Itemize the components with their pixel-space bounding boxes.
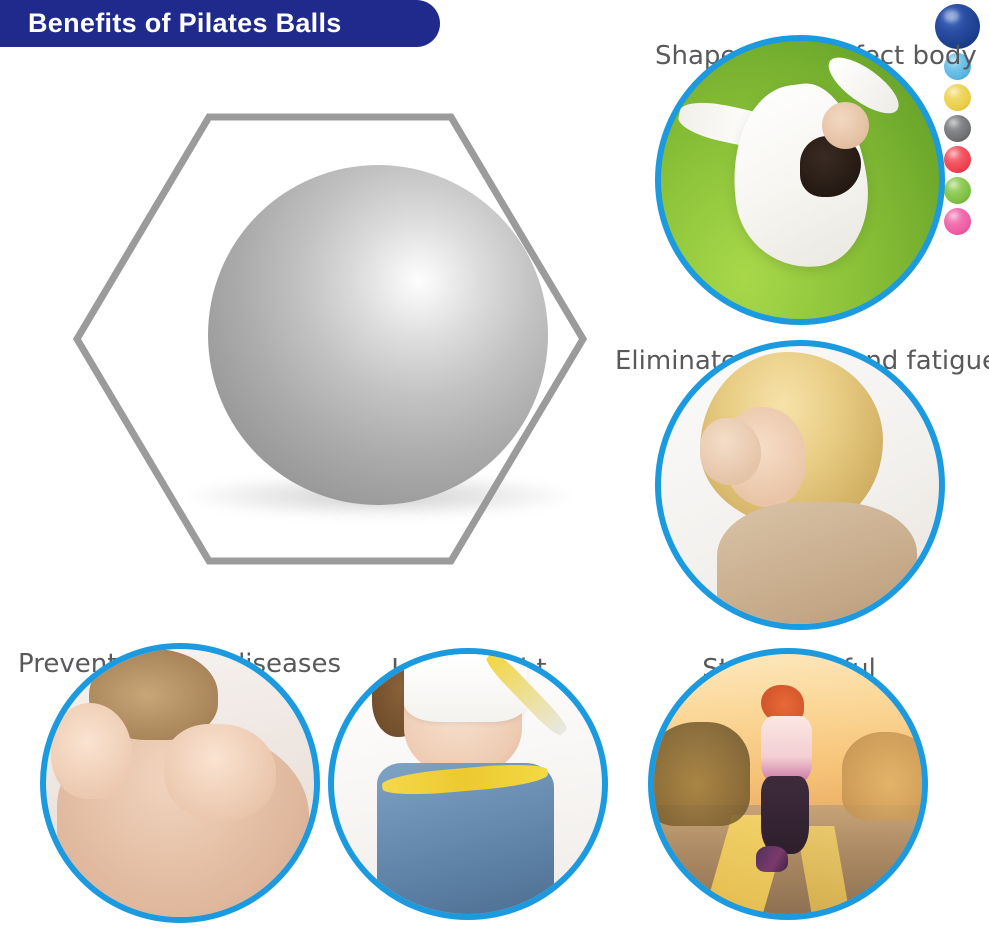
run-runner-shoe [756,846,788,872]
photo-woman-holding-sore-neck-and-shoulder [40,643,320,923]
run-runner-legs [761,776,809,854]
swatch-gray [944,115,971,142]
swatch-red [944,146,971,173]
infographic-root: Benefits of Pilates Balls Shape your per… [0,0,989,952]
page-title: Benefits of Pilates Balls [28,8,342,39]
photo-stressed-woman-resting-head-on-hand [655,340,945,630]
yoga-head-shape [822,102,869,149]
benefit-card-shape-body: Shape your perfect body [655,35,947,71]
title-banner: Benefits of Pilates Balls [0,0,440,47]
benefit-card-lose-weight: Lose weight [328,648,610,684]
benefit-card-eliminate-tension: Eliminate tension and fatigue [655,340,947,376]
run-trees-left [648,722,750,826]
swatch-yellow [944,84,971,111]
run-runner-torso [761,716,812,784]
benefit-card-stay-youthful: Stay youthful [648,648,930,684]
benefit-card-prevent-disease: Prevent chronic diseases [40,643,322,679]
stress-torso-shape [717,502,917,630]
swatch-pink [944,208,971,235]
neck-left-hand-shape [51,703,131,799]
photo-woman-doing-yoga-pose-on-grass [655,35,945,325]
pilates-ball-image [208,165,548,505]
photo-woman-running-on-road-at-sunset [648,648,928,920]
neck-right-hand-shape [164,724,277,820]
swatch-green [944,177,971,204]
run-trees-right [842,732,928,820]
product-showcase [60,100,600,580]
photo-woman-measuring-waist-with-loose-jeans [328,648,608,920]
stress-hand-shape [700,418,761,485]
